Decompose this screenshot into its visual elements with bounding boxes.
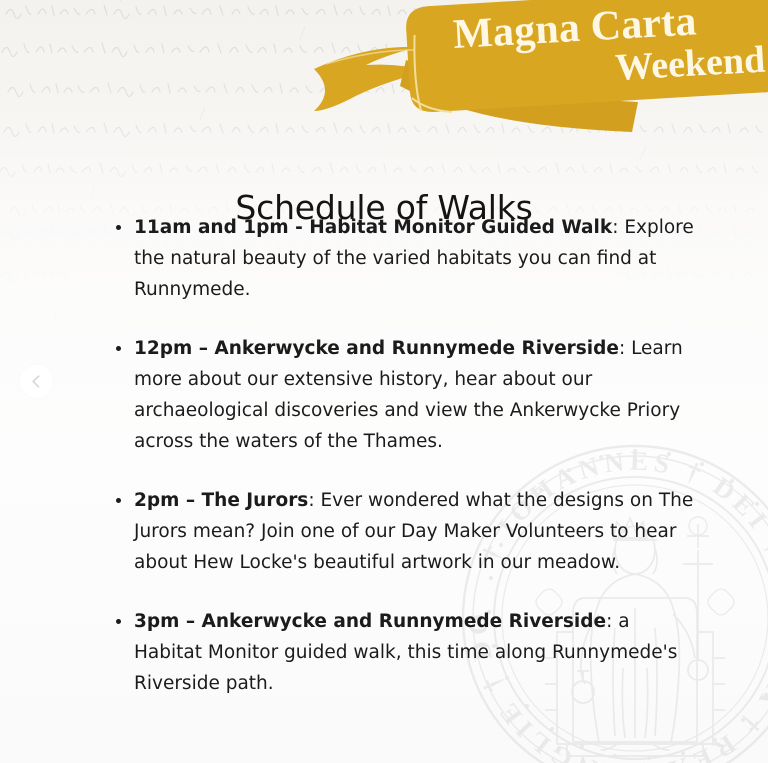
chevron-left-icon	[29, 374, 44, 389]
list-item: 2pm – The Jurors: Ever wondered what the…	[112, 485, 702, 578]
list-item: 11am and 1pm - Habitat Monitor Guided Wa…	[112, 212, 702, 305]
walk-lead: 2pm – The Jurors	[134, 490, 308, 511]
magna-carta-weekend-slide: † IOHANNES † DEI † GRACIA † REX † ANGLIE…	[0, 0, 768, 763]
schedule-of-walks-list: 11am and 1pm - Habitat Monitor Guided Wa…	[112, 212, 702, 699]
walk-lead: 12pm – Ankerwycke and Runnymede Riversid…	[134, 338, 619, 359]
list-item: 3pm – Ankerwycke and Runnymede Riverside…	[112, 606, 702, 699]
magna-carta-weekend-banner	[300, 0, 768, 144]
carousel-prev-button[interactable]	[20, 365, 53, 398]
list-item: 12pm – Ankerwycke and Runnymede Riversid…	[112, 333, 702, 457]
walk-lead: 3pm – Ankerwycke and Runnymede Riverside	[134, 611, 606, 632]
walk-lead: 11am and 1pm - Habitat Monitor Guided Wa…	[134, 217, 612, 238]
